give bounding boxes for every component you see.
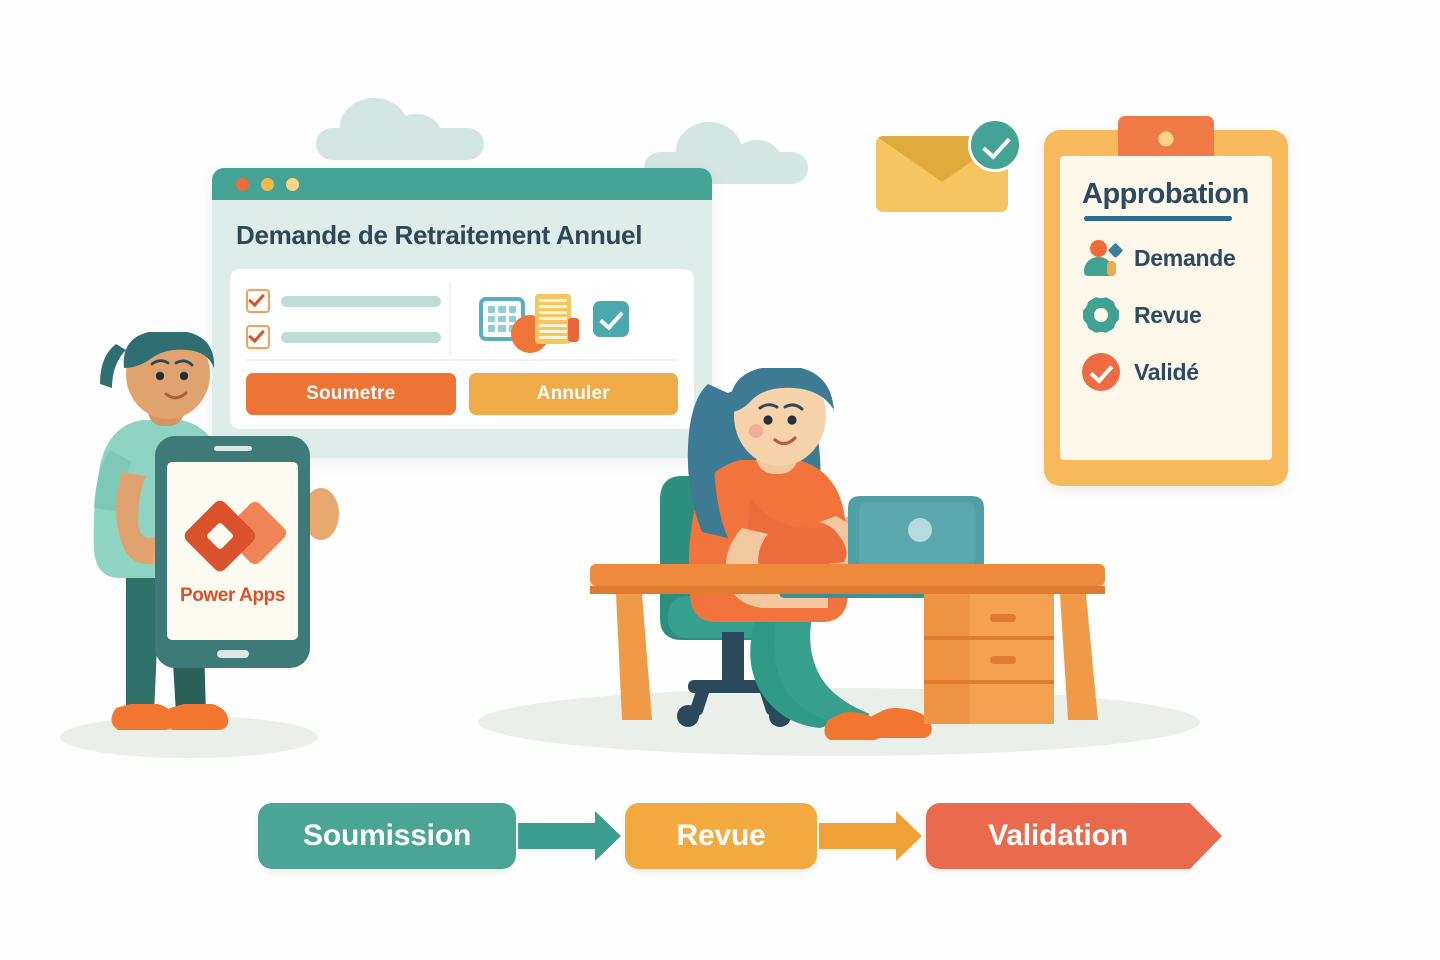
clipboard-item-label: Revue xyxy=(1134,302,1202,329)
clipboard-title: Approbation xyxy=(1082,178,1272,211)
desk-drawer-side xyxy=(924,594,970,724)
process-flow-bar: Soumission Revue Validation xyxy=(258,800,1190,872)
clipboard-title-underline xyxy=(1084,216,1232,221)
laptop-camera-dot xyxy=(908,518,932,542)
woman-eye-left xyxy=(763,415,772,424)
power-apps-logo xyxy=(179,495,287,579)
man-eye-right xyxy=(180,372,188,380)
flow-step-revue[interactable]: Revue xyxy=(625,803,817,869)
check-square-icon[interactable] xyxy=(593,301,629,337)
desk-leg-left xyxy=(616,594,652,720)
man-shoe-left xyxy=(111,704,174,730)
clipboard-item-demande: Demande xyxy=(1082,239,1272,277)
phone-home-button[interactable] xyxy=(217,650,249,658)
cloud-left-icon xyxy=(316,98,484,160)
flow-step-soumission[interactable]: Soumission xyxy=(258,803,516,869)
phone-speaker xyxy=(214,446,252,451)
flow-arrow-1 xyxy=(518,823,595,849)
woman-eye-right xyxy=(787,415,796,424)
close-dot-icon[interactable] xyxy=(236,178,249,191)
clipboard-item-label: Validé xyxy=(1134,359,1199,386)
man-eye-left xyxy=(156,372,164,380)
clipboard-item-label: Demande xyxy=(1134,245,1235,272)
clipboard-item-revue: Revue xyxy=(1082,296,1272,334)
email-notification-group xyxy=(876,118,1022,216)
desk-leg-right xyxy=(1060,594,1098,720)
woman-at-desk-scene xyxy=(590,368,1135,750)
desk-top-edge xyxy=(590,586,1105,594)
maximize-dot-icon[interactable] xyxy=(286,178,299,191)
check-badge-icon xyxy=(968,118,1022,172)
illustration-canvas: Demande de Retraitement Annuel xyxy=(0,0,1440,960)
person-icon xyxy=(1082,239,1120,277)
man-shoe-right xyxy=(165,704,228,730)
flow-step-validation[interactable]: Validation xyxy=(926,803,1190,869)
window-title-bar xyxy=(212,168,712,200)
minimize-dot-icon[interactable] xyxy=(261,178,274,191)
woman-shoe-front xyxy=(869,708,932,738)
form-field-placeholder-bar[interactable] xyxy=(281,296,441,307)
checkbox-icon[interactable] xyxy=(246,289,270,313)
power-apps-phone: Power Apps xyxy=(155,436,310,668)
form-title: Demande de Retraitement Annuel xyxy=(236,220,688,251)
form-checkbox-row[interactable] xyxy=(246,289,441,313)
gear-icon xyxy=(1082,296,1120,334)
form-icon-column xyxy=(469,283,678,355)
document-icon[interactable] xyxy=(535,294,571,344)
man-hair-side xyxy=(100,344,126,388)
phone-screen[interactable]: Power Apps xyxy=(167,462,298,640)
desk-top xyxy=(590,564,1105,586)
woman-cheek xyxy=(749,424,763,438)
power-apps-label: Power Apps xyxy=(180,585,285,607)
flow-arrow-2 xyxy=(819,823,896,849)
